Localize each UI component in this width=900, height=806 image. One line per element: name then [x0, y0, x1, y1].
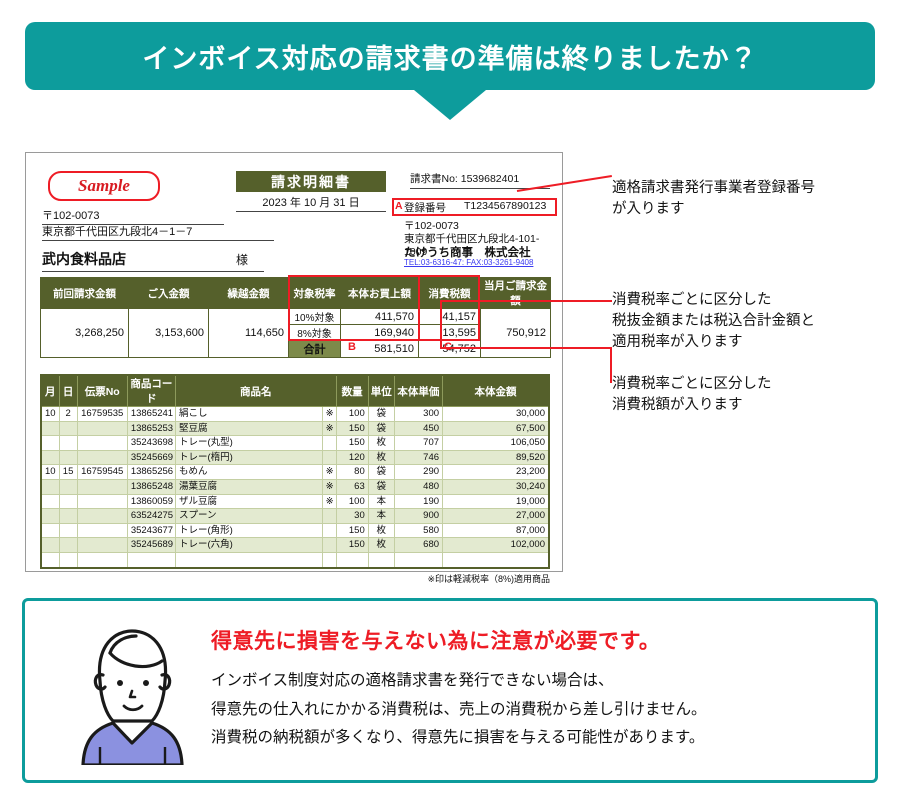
detail-cell-price: 300	[394, 407, 442, 422]
leader-line-b-vertical	[440, 300, 442, 348]
detail-cell-slip	[77, 538, 127, 553]
table-row: 35243677トレー(角形)150枚58087,000	[41, 523, 549, 538]
detail-col-qty: 数量	[336, 375, 368, 407]
detail-cell-price: 480	[394, 479, 442, 494]
detail-cell-day	[59, 523, 77, 538]
detail-cell-price: 190	[394, 494, 442, 509]
detail-cell-month	[41, 494, 59, 509]
banner-arrow-icon	[414, 90, 486, 120]
seller-contact: TEL:03-6316-47: FAX:03-3261-9408	[404, 258, 533, 267]
detail-cell-code	[127, 552, 175, 567]
detail-cell-name: 湯葉豆腐	[176, 479, 323, 494]
detail-cell-name: 堅豆腐	[176, 421, 323, 436]
detail-cell-name: ザル豆腐	[176, 494, 323, 509]
detail-cell-code: 35245689	[127, 538, 175, 553]
detail-cell-mark	[322, 436, 336, 451]
document-title: 請求明細書	[236, 171, 386, 192]
detail-cell-mark	[322, 450, 336, 465]
summary-col-prev: 前回請求金額	[41, 278, 129, 309]
detail-cell-price: 450	[394, 421, 442, 436]
summary-col-base: 本体お買上額	[341, 278, 419, 309]
detail-cell-qty: 100	[336, 407, 368, 422]
marker-b-label: B	[348, 341, 356, 353]
table-row: 1021675953513865241絹こし※100袋30030,000	[41, 407, 549, 422]
table-row: 13865248湯葉豆腐※63袋48030,240	[41, 479, 549, 494]
detail-footnote: ※印は軽減税率（8%)適用商品	[40, 572, 580, 585]
callout-a-line2: が入ります	[612, 199, 815, 220]
buyer-name: 武内食料品店	[42, 249, 264, 272]
registration-label: 登録番号	[404, 200, 446, 215]
sample-badge: Sample	[48, 171, 160, 201]
table-row: 35243698トレー(丸型)150枚707106,050	[41, 436, 549, 451]
detail-cell-day: 15	[59, 465, 77, 480]
callout-b: 消費税率ごとに区分した 税抜金額または税込合計金額と 適用税率が入ります	[612, 290, 815, 353]
table-row: 35245689トレー(六角)150枚680102,000	[41, 538, 549, 553]
summary-header-row: 前回請求金額 ご入金額 繰越金額 対象税率 本体お買上額 消費税額 当月ご請求金…	[41, 278, 551, 309]
summary-rate-1: 8%対象	[289, 325, 341, 341]
detail-cell-day	[59, 494, 77, 509]
detail-cell-qty: 63	[336, 479, 368, 494]
callout-c-line1: 消費税率ごとに区分した	[612, 374, 772, 395]
detail-cell-slip	[77, 421, 127, 436]
summary-prev-amount: 3,268,250	[41, 309, 129, 358]
detail-cell-day	[59, 479, 77, 494]
detail-cell-code: 35243677	[127, 523, 175, 538]
warning-body-line1: インボイス制度対応の適格請求書を発行できない場合は、	[211, 667, 707, 696]
summary-paid-amount: 3,153,600	[129, 309, 209, 358]
detail-cell-unit: 袋	[368, 465, 394, 480]
detail-cell-mark: ※	[322, 421, 336, 436]
warning-title: 得意先に損害を与えない為に注意が必要です。	[211, 625, 660, 655]
detail-cell-name: もめん	[176, 465, 323, 480]
detail-cell-unit: 袋	[368, 421, 394, 436]
detail-cell-amount	[443, 552, 549, 567]
detail-cell-price: 290	[394, 465, 442, 480]
detail-cell-unit: 枚	[368, 523, 394, 538]
detail-cell-unit: 枚	[368, 450, 394, 465]
detail-cell-amount: 89,520	[443, 450, 549, 465]
detail-cell-day	[59, 509, 77, 524]
warning-panel: 得意先に損害を与えない為に注意が必要です。 インボイス制度対応の適格請求書を発行…	[22, 598, 878, 783]
detail-cell-slip	[77, 450, 127, 465]
detail-cell-price: 580	[394, 523, 442, 538]
detail-cell-mark	[322, 509, 336, 524]
detail-cell-mark: ※	[322, 407, 336, 422]
detail-cell-name: トレー(角形)	[176, 523, 323, 538]
detail-cell-month	[41, 523, 59, 538]
detail-cell-code: 13865241	[127, 407, 175, 422]
summary-tax-0: 41,157	[419, 309, 481, 325]
summary-col-current: 当月ご請求金額	[481, 278, 551, 309]
callout-b-line1: 消費税率ごとに区分した	[612, 290, 815, 311]
detail-cell-mark: ※	[322, 479, 336, 494]
detail-cell-unit: 枚	[368, 538, 394, 553]
detail-cell-month	[41, 538, 59, 553]
detail-col-unit: 単位	[368, 375, 394, 407]
detail-cell-amount: 106,050	[443, 436, 549, 451]
detail-cell-slip	[77, 479, 127, 494]
table-row: 63524275スプーン30本90027,000	[41, 509, 549, 524]
detail-cell-name: トレー(楕円)	[176, 450, 323, 465]
detail-cell-day: 2	[59, 407, 77, 422]
detail-cell-unit	[368, 552, 394, 567]
detail-cell-qty	[336, 552, 368, 567]
detail-cell-day	[59, 552, 77, 567]
detail-cell-unit: 本	[368, 509, 394, 524]
warning-body-line2: 得意先の仕入れにかかる消費税は、売上の消費税から差し引けません。	[211, 696, 707, 725]
detail-cell-slip	[77, 509, 127, 524]
summary-current-total: 750,912	[481, 309, 551, 358]
detail-cell-month	[41, 421, 59, 436]
buyer-honorific: 様	[236, 251, 248, 268]
callout-b-line2: 税抜金額または税込合計金額と	[612, 311, 815, 332]
buyer-address: 東京都千代田区九段北4－1－7	[42, 223, 274, 241]
detail-cell-price	[394, 552, 442, 567]
detail-cell-amount: 67,500	[443, 421, 549, 436]
summary-table: 前回請求金額 ご入金額 繰越金額 対象税率 本体お買上額 消費税額 当月ご請求金…	[40, 277, 551, 358]
leader-line-b-horizontal	[440, 300, 612, 302]
banner-title: インボイス対応の請求書の準備は終りましたか？	[142, 37, 757, 76]
detail-cell-qty: 150	[336, 421, 368, 436]
table-row: 13860059ザル豆腐※100本19019,000	[41, 494, 549, 509]
summary-col-carryover: 繰越金額	[209, 278, 289, 309]
detail-cell-name: スプーン	[176, 509, 323, 524]
detail-cell-unit: 袋	[368, 479, 394, 494]
detail-col-slip: 伝票No	[77, 375, 127, 407]
detail-cell-price: 680	[394, 538, 442, 553]
summary-rate-total: 合計	[289, 341, 341, 358]
leader-line-c-horizontal	[440, 347, 612, 349]
detail-cell-name: 絹こし	[176, 407, 323, 422]
callout-b-line3: 適用税率が入ります	[612, 332, 815, 353]
summary-rate-0: 10%対象	[289, 309, 341, 325]
detail-cell-slip	[77, 552, 127, 567]
table-row	[41, 552, 549, 567]
detail-cell-slip	[77, 436, 127, 451]
detail-cell-mark	[322, 538, 336, 553]
detail-cell-slip	[77, 523, 127, 538]
detail-col-code: 商品コード	[127, 375, 175, 407]
summary-base-0: 411,570	[341, 309, 419, 325]
warning-body: インボイス制度対応の適格請求書を発行できない場合は、 得意先の仕入れにかかる消費…	[211, 667, 707, 753]
detail-cell-slip: 16759535	[77, 407, 127, 422]
detail-cell-code: 35243698	[127, 436, 175, 451]
detail-cell-qty: 150	[336, 523, 368, 538]
detail-cell-code: 35245669	[127, 450, 175, 465]
detail-col-month: 月	[41, 375, 59, 407]
detail-cell-code: 13865256	[127, 465, 175, 480]
detail-cell-qty: 150	[336, 436, 368, 451]
detail-cell-month: 10	[41, 407, 59, 422]
detail-cell-month	[41, 436, 59, 451]
callout-a-line1: 適格請求書発行事業者登録番号	[612, 178, 815, 199]
table-row: 13865253堅豆腐※150袋45067,500	[41, 421, 549, 436]
detail-cell-month	[41, 450, 59, 465]
detail-cell-code: 13865248	[127, 479, 175, 494]
summary-col-rate: 対象税率	[289, 278, 341, 309]
detail-cell-price: 746	[394, 450, 442, 465]
detail-cell-mark	[322, 552, 336, 567]
detail-cell-day	[59, 421, 77, 436]
summary-row-10pct: 3,268,250 3,153,600 114,650 10%対象 411,57…	[41, 309, 551, 325]
detail-cell-day	[59, 538, 77, 553]
detail-cell-price: 900	[394, 509, 442, 524]
detail-col-name: 商品名	[176, 375, 337, 407]
detail-col-price: 本体単価	[394, 375, 442, 407]
callout-c-line2: 消費税額が入ります	[612, 395, 772, 416]
table-row: 10151675954513865256もめん※80袋29023,200	[41, 465, 549, 480]
invoice-card: Sample 〒102-0073 東京都千代田区九段北4－1－7 武内食料品店 …	[25, 152, 563, 572]
detail-cell-unit: 枚	[368, 436, 394, 451]
detail-cell-mark: ※	[322, 494, 336, 509]
detail-cell-amount: 30,240	[443, 479, 549, 494]
banner-box: インボイス対応の請求書の準備は終りましたか？	[25, 22, 875, 90]
detail-table-body: 1021675953513865241絹こし※100袋30030,0001386…	[41, 407, 549, 568]
detail-cell-unit: 本	[368, 494, 394, 509]
detail-cell-name: トレー(六角)	[176, 538, 323, 553]
detail-cell-name: トレー(丸型)	[176, 436, 323, 451]
detail-cell-amount: 30,000	[443, 407, 549, 422]
detail-cell-slip: 16759545	[77, 465, 127, 480]
registration-number: T1234567890123	[464, 200, 546, 212]
detail-cell-day	[59, 436, 77, 451]
document-date: 2023 年 10 月 31 日	[236, 194, 386, 212]
marker-a-label: A	[395, 200, 403, 212]
detail-cell-amount: 87,000	[443, 523, 549, 538]
detail-header-row: 月 日 伝票No 商品コード 商品名 数量 単位 本体単価 本体金額	[41, 375, 549, 407]
detail-cell-day	[59, 450, 77, 465]
detail-cell-amount: 27,000	[443, 509, 549, 524]
detail-cell-month: 10	[41, 465, 59, 480]
detail-table: 月 日 伝票No 商品コード 商品名 数量 単位 本体単価 本体金額 10216…	[40, 374, 550, 569]
detail-cell-price: 707	[394, 436, 442, 451]
invoice-header: Sample 〒102-0073 東京都千代田区九段北4－1－7 武内食料品店 …	[40, 167, 548, 275]
detail-cell-qty: 100	[336, 494, 368, 509]
detail-cell-code: 63524275	[127, 509, 175, 524]
detail-cell-month	[41, 479, 59, 494]
summary-carryover: 114,650	[209, 309, 289, 358]
detail-cell-qty: 120	[336, 450, 368, 465]
callout-c: 消費税率ごとに区分した 消費税額が入ります	[612, 374, 772, 416]
detail-cell-month	[41, 509, 59, 524]
detail-cell-code: 13865253	[127, 421, 175, 436]
detail-cell-unit: 袋	[368, 407, 394, 422]
warning-body-line3: 消費税の納税額が多くなり、得意先に損害を与える可能性があります。	[211, 724, 707, 753]
table-row: 35245669トレー(楕円)120枚74689,520	[41, 450, 549, 465]
summary-col-tax: 消費税額	[419, 278, 481, 309]
detail-col-amount: 本体金額	[443, 375, 549, 407]
detail-cell-month	[41, 552, 59, 567]
detail-cell-amount: 19,000	[443, 494, 549, 509]
detail-cell-slip	[77, 494, 127, 509]
detail-col-day: 日	[59, 375, 77, 407]
person-illustration-icon	[70, 623, 195, 765]
detail-cell-code: 13860059	[127, 494, 175, 509]
detail-cell-name	[176, 552, 323, 567]
detail-cell-qty: 150	[336, 538, 368, 553]
detail-cell-amount: 102,000	[443, 538, 549, 553]
detail-cell-qty: 30	[336, 509, 368, 524]
summary-table-wrap: 前回請求金額 ご入金額 繰越金額 対象税率 本体お買上額 消費税額 当月ご請求金…	[40, 277, 548, 358]
detail-cell-mark	[322, 523, 336, 538]
header-banner: インボイス対応の請求書の準備は終りましたか？	[25, 22, 875, 120]
detail-cell-qty: 80	[336, 465, 368, 480]
detail-cell-mark: ※	[322, 465, 336, 480]
detail-cell-amount: 23,200	[443, 465, 549, 480]
invoice-number: 請求書No: 1539682401	[410, 171, 550, 189]
summary-col-paid: ご入金額	[129, 278, 209, 309]
callout-a: 適格請求書発行事業者登録番号 が入ります	[612, 178, 815, 220]
summary-tax-1: 13,595	[419, 325, 481, 341]
summary-base-1: 169,940	[341, 325, 419, 341]
